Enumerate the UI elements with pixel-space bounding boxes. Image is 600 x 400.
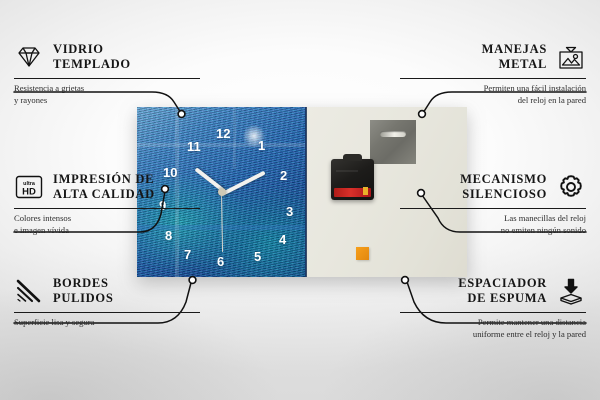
feature-subtitle-line2: e imagen vívida: [14, 225, 200, 237]
feature-subtitle-line2: uniforme entre el reloj y la pared: [400, 329, 586, 341]
divider: [14, 312, 200, 314]
feature-title-line1: VIDRIO: [53, 42, 131, 57]
feature-title-line1: BORDES: [53, 276, 113, 291]
diagonal-lines-icon: [14, 276, 44, 306]
hanging-frame-icon: [556, 42, 586, 72]
feature-impresion-alta-calidad: ultra HD IMPRESIÓN DE ALTA CALIDAD Color…: [14, 172, 200, 237]
svg-text:HD: HD: [22, 187, 36, 198]
feature-espaciador-de-espuma: ESPACIADOR DE ESPUMA Permite mantener un…: [400, 276, 586, 341]
feature-title-line1: MANEJAS: [482, 42, 547, 57]
feature-vidrio-templado: VIDRIO TEMPLADO Resistencia a grietas y …: [14, 42, 200, 107]
feature-manejas-metal: MANEJAS METAL Permiten una fácil instala…: [400, 42, 586, 107]
ultra-hd-icon: ultra HD: [14, 172, 44, 202]
feature-subtitle-line2: del reloj en la pared: [400, 95, 586, 107]
feature-title-line2: ALTA CALIDAD: [53, 187, 155, 202]
divider: [400, 78, 586, 80]
feature-subtitle-line1: Permiten una fácil instalación: [400, 83, 586, 95]
divider: [14, 78, 200, 80]
feature-subtitle-line1: Superficie lisa y segura: [14, 317, 200, 329]
feature-title-line2: PULIDOS: [53, 291, 113, 306]
feature-subtitle-line1: Las manecillas del reloj: [400, 213, 586, 225]
feature-title-line2: METAL: [482, 57, 547, 72]
feature-title-line1: IMPRESIÓN DE: [53, 172, 155, 187]
feature-subtitle-line2: y rayones: [14, 95, 200, 107]
feature-title-line2: SILENCIOSO: [460, 187, 547, 202]
diamond-icon: [14, 42, 44, 72]
gear-icon: [556, 172, 586, 202]
arrow-onto-layers-icon: [556, 276, 586, 306]
feature-bordes-pulidos: BORDES PULIDOS Superficie lisa y segura: [14, 276, 200, 329]
divider: [400, 208, 586, 210]
feature-title-line1: MECANISMO: [460, 172, 547, 187]
feature-subtitle-line1: Resistencia a grietas: [14, 83, 200, 95]
feature-mecanismo-silencioso: MECANISMO SILENCIOSO Las manecillas del …: [400, 172, 586, 237]
feature-title-line1: ESPACIADOR: [458, 276, 547, 291]
infographic-canvas: 12 1 2 3 4 5 6 7 8 9 10 11: [0, 0, 600, 400]
connector-dot-manejas: [419, 111, 426, 118]
feature-subtitle-line2: no emiten ningún sonido: [400, 225, 586, 237]
feature-subtitle-line1: Permite mantener una distancia: [400, 317, 586, 329]
feature-title-line2: TEMPLADO: [53, 57, 131, 72]
divider: [400, 312, 586, 314]
feature-title-line2: DE ESPUMA: [458, 291, 547, 306]
connector-dot-vidrio: [178, 111, 185, 118]
divider: [14, 208, 200, 210]
feature-subtitle-line1: Colores intensos: [14, 213, 200, 225]
